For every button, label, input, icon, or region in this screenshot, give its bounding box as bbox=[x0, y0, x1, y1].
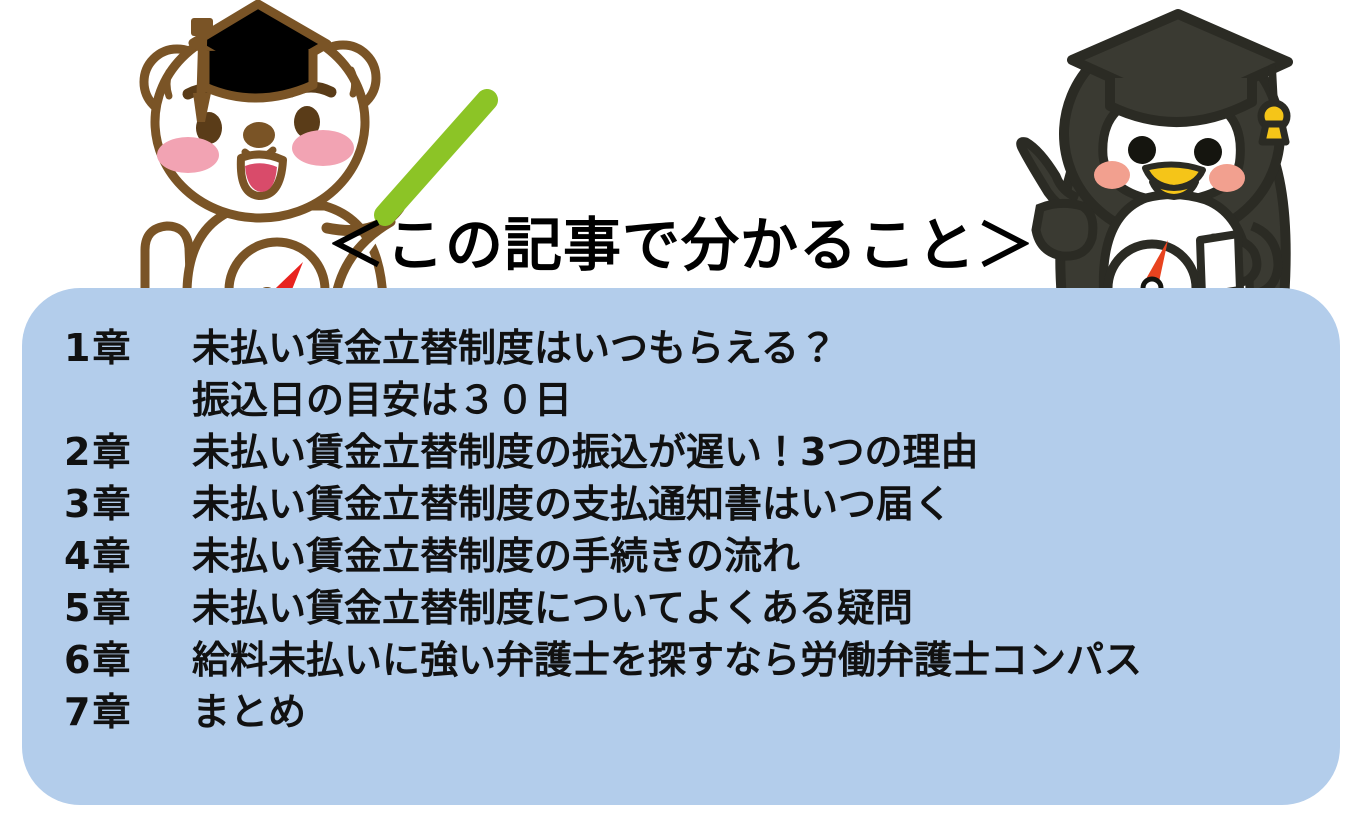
toc-row[interactable]: 2章 未払い賃金立替制度の振込が遅い！3つの理由 bbox=[22, 426, 1340, 478]
chapter-number: 1章 bbox=[64, 322, 192, 374]
chapter-title: 未払い賃金立替制度の振込が遅い！3つの理由 bbox=[192, 426, 1340, 478]
chapter-number: 2章 bbox=[64, 426, 192, 478]
toc-row[interactable]: 7章 まとめ bbox=[22, 686, 1340, 738]
list-item[interactable]: 4章 未払い賃金立替制度の手続きの流れ bbox=[22, 530, 1340, 582]
toc-row[interactable]: 4章 未払い賃金立替制度の手続きの流れ bbox=[22, 530, 1340, 582]
chapter-title: 未払い賃金立替制度はいつもらえる？ bbox=[192, 322, 1340, 374]
toc-row[interactable]: 6章 給料未払いに強い弁護士を探すなら労働弁護士コンパス bbox=[22, 634, 1340, 686]
chapter-number: 3章 bbox=[64, 478, 192, 530]
list-item[interactable]: 3章 未払い賃金立替制度の支払通知書はいつ届く bbox=[22, 478, 1340, 530]
chapter-title: 未払い賃金立替制度についてよくある疑問 bbox=[192, 582, 1340, 634]
chapter-subtitle: 振込日の目安は３０日 bbox=[192, 374, 1340, 426]
toc-subline-row: 振込日の目安は３０日 bbox=[22, 374, 1340, 426]
chapter-number: 6章 bbox=[64, 634, 192, 686]
pointer-stick-icon bbox=[385, 100, 487, 215]
infographic-canvas: ＜この記事で分かること＞ 1章 未払い賃金立替制度はいつもらえる？ 振込日の目安… bbox=[0, 0, 1362, 831]
list-item[interactable]: 1章 未払い賃金立替制度はいつもらえる？ 振込日の目安は３０日 bbox=[22, 322, 1340, 426]
list-item[interactable]: 7章 まとめ bbox=[22, 686, 1340, 738]
table-of-contents-panel: 1章 未払い賃金立替制度はいつもらえる？ 振込日の目安は３０日 2章 未払い賃金… bbox=[22, 288, 1340, 805]
chapter-title: 未払い賃金立替制度の支払通知書はいつ届く bbox=[192, 478, 1340, 530]
list-item[interactable]: 5章 未払い賃金立替制度についてよくある疑問 bbox=[22, 582, 1340, 634]
table-of-contents-list: 1章 未払い賃金立替制度はいつもらえる？ 振込日の目安は３０日 2章 未払い賃金… bbox=[22, 322, 1340, 738]
section-heading: ＜この記事で分かること＞ bbox=[0, 216, 1362, 274]
chapter-title: 未払い賃金立替制度の手続きの流れ bbox=[192, 530, 1340, 582]
toc-row[interactable]: 5章 未払い賃金立替制度についてよくある疑問 bbox=[22, 582, 1340, 634]
list-item[interactable]: 2章 未払い賃金立替制度の振込が遅い！3つの理由 bbox=[22, 426, 1340, 478]
list-item[interactable]: 6章 給料未払いに強い弁護士を探すなら労働弁護士コンパス bbox=[22, 634, 1340, 686]
toc-row[interactable]: 3章 未払い賃金立替制度の支払通知書はいつ届く bbox=[22, 478, 1340, 530]
toc-row[interactable]: 1章 未払い賃金立替制度はいつもらえる？ bbox=[22, 322, 1340, 374]
chapter-title: 給料未払いに強い弁護士を探すなら労働弁護士コンパス bbox=[192, 634, 1340, 686]
chapter-number: 5章 bbox=[64, 582, 192, 634]
chapter-number: 7章 bbox=[64, 686, 192, 738]
chapter-title: まとめ bbox=[192, 686, 1340, 738]
chapter-number: 4章 bbox=[64, 530, 192, 582]
